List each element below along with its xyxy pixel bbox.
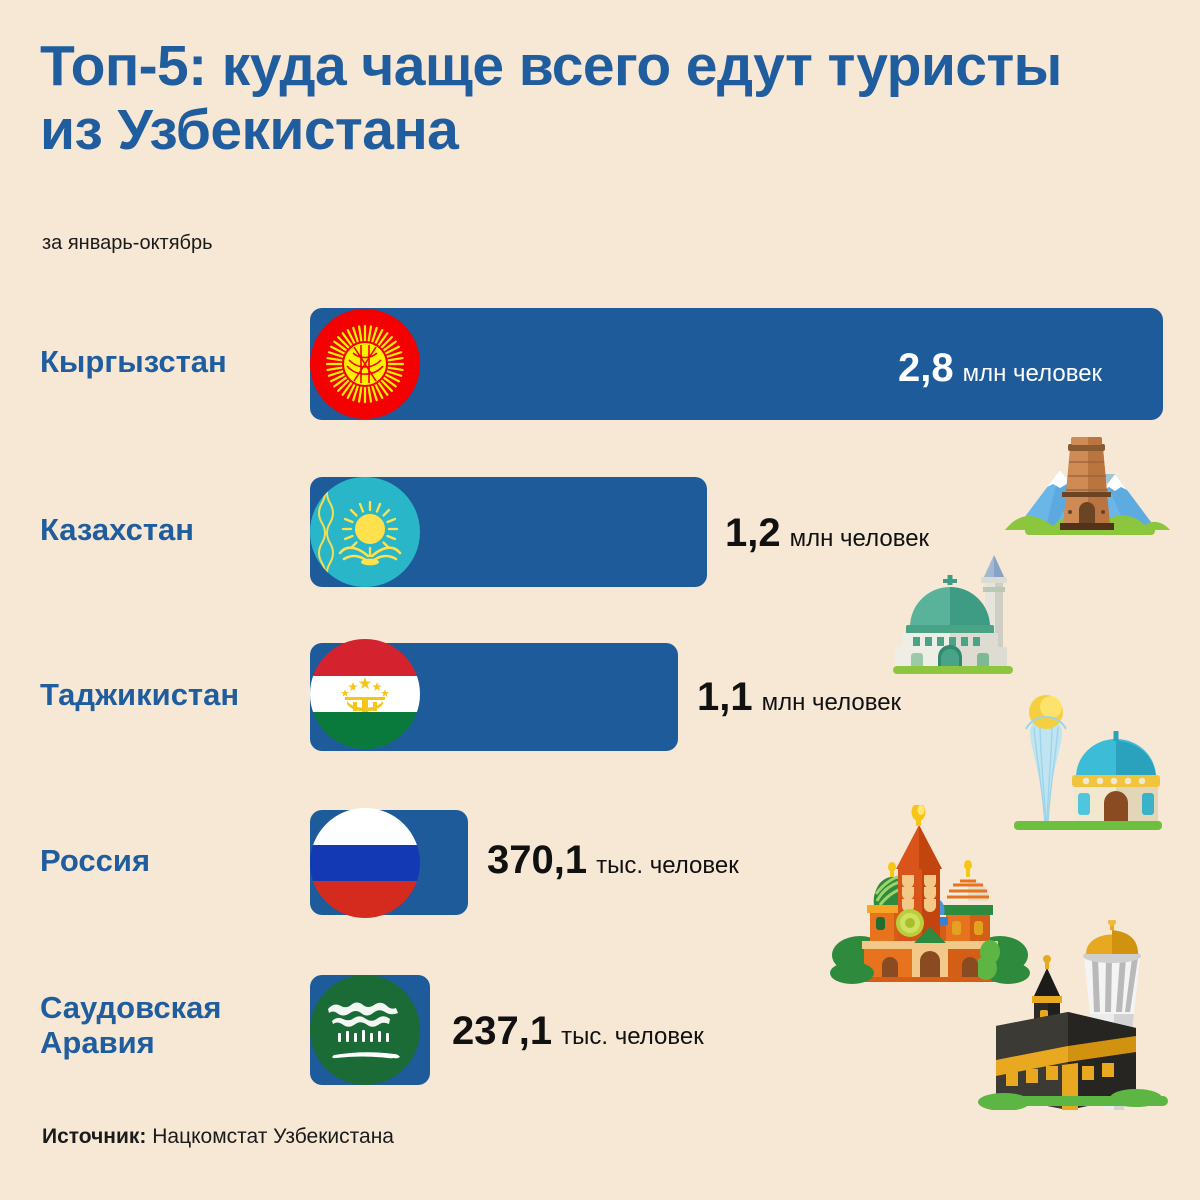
value-unit: млн человек	[963, 360, 1102, 388]
category-label-line1: Саудовская	[40, 990, 305, 1025]
value-unit: млн человек	[762, 689, 901, 717]
category-label: Россия	[40, 843, 305, 878]
page-subtitle: за январь-октябрь	[42, 232, 213, 255]
value-russia: 370,1 тыс. человек	[487, 838, 739, 883]
value-kazakhstan: 1,2 млн человек	[725, 511, 929, 556]
value-number: 1,1	[697, 675, 753, 720]
category-label: Кыргызстан	[40, 344, 305, 379]
flag-russia-icon	[310, 808, 420, 918]
source-label: Источник:	[42, 1125, 146, 1148]
flag-kazakhstan-icon	[310, 477, 420, 587]
value-unit: тыс. человек	[596, 852, 739, 880]
value-tajikistan: 1,1 млн человек	[697, 675, 901, 720]
value-unit: млн человек	[790, 525, 929, 553]
kaaba-icon	[978, 920, 1178, 1115]
value-number: 370,1	[487, 838, 587, 883]
page-title: Топ-5: куда чаще всего едут туристы из У…	[40, 34, 1130, 163]
category-label: Таджикистан	[40, 677, 305, 712]
value-saudi-arabia: 237,1 тыс. человек	[452, 1009, 704, 1054]
value-number: 237,1	[452, 1009, 552, 1054]
value-number: 2,8	[898, 346, 954, 391]
value-kyrgyzstan: 2,8 млн человек	[898, 346, 1102, 391]
flag-saudi-arabia-icon	[310, 975, 420, 1085]
source-note: Источник: Нацкомстат Узбекистана	[42, 1125, 394, 1149]
flag-tajikistan-icon	[310, 639, 420, 749]
flag-kyrgyzstan-icon	[310, 309, 420, 419]
chart-row: Кыргызстан	[0, 308, 1200, 420]
category-label: Казахстан	[40, 512, 305, 547]
infographic-canvas: Топ-5: куда чаще всего едут туристы из У…	[0, 0, 1200, 1200]
value-unit: тыс. человек	[561, 1023, 704, 1051]
value-number: 1,2	[725, 511, 781, 556]
source-value: Нацкомстат Узбекистана	[152, 1125, 394, 1148]
category-label-line2: Аравия	[40, 1025, 305, 1060]
category-label: Саудовская Аравия	[40, 990, 305, 1061]
